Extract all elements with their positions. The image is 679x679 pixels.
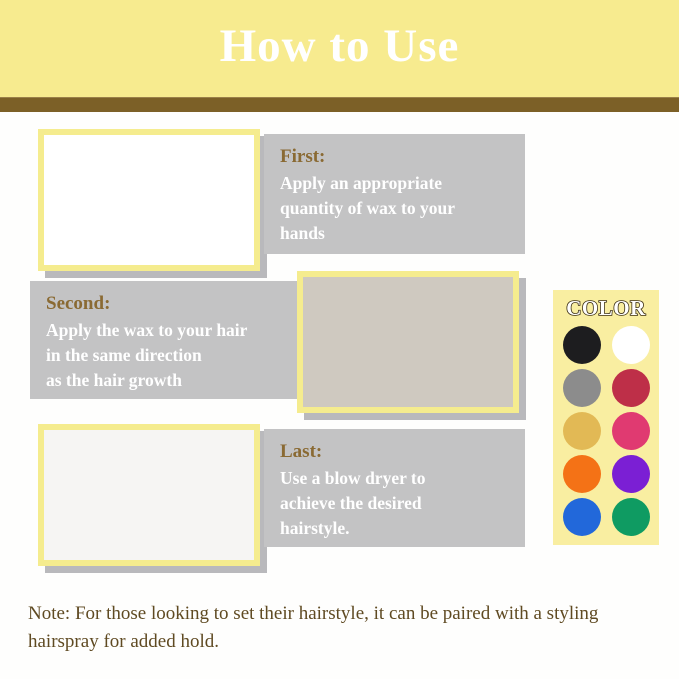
color-swatch-white[interactable]	[612, 326, 650, 364]
page-title: How to Use	[0, 16, 679, 76]
color-swatch-purple[interactable]	[612, 455, 650, 493]
color-swatch-panel: COLOR	[553, 290, 659, 545]
color-swatch-green[interactable]	[612, 498, 650, 536]
color-swatch-grid	[553, 323, 659, 538]
color-swatch-gray[interactable]	[563, 369, 601, 407]
step-panel-first: First: Apply an appropriate quantity of …	[264, 134, 525, 254]
step-text-first: Apply an appropriate quantity of wax to …	[280, 171, 509, 246]
color-swatch-blue[interactable]	[563, 498, 601, 536]
applying-wax-to-hair-photo	[297, 271, 519, 413]
step-panel-second: Second: Apply the wax to your hair in th…	[30, 281, 310, 399]
blow-drying-hair-photo-inner	[44, 430, 254, 560]
color-swatch-black[interactable]	[563, 326, 601, 364]
usage-note: Note: For those looking to set their hai…	[28, 600, 638, 656]
color-swatch-crimson[interactable]	[612, 369, 650, 407]
color-swatch-pink[interactable]	[612, 412, 650, 450]
color-panel-title: COLOR	[553, 296, 659, 320]
step-label-first: First:	[280, 144, 509, 170]
hand-with-wax-photo-inner	[44, 135, 254, 265]
color-swatch-orange[interactable]	[563, 455, 601, 493]
step-text-second: Apply the wax to your hair in the same d…	[46, 318, 294, 393]
photo-background	[303, 277, 513, 407]
header-divider	[0, 97, 679, 112]
step-text-last: Use a blow dryer to achieve the desired …	[280, 466, 509, 541]
color-swatch-gold[interactable]	[563, 412, 601, 450]
photo-background	[44, 135, 254, 265]
hand-with-wax-photo	[38, 129, 260, 271]
step-label-last: Last:	[280, 439, 509, 465]
photo-background	[44, 430, 254, 560]
blow-drying-hair-photo	[38, 424, 260, 566]
applying-wax-to-hair-photo-inner	[303, 277, 513, 407]
step-panel-last: Last: Use a blow dryer to achieve the de…	[264, 429, 525, 547]
step-label-second: Second:	[46, 291, 294, 317]
